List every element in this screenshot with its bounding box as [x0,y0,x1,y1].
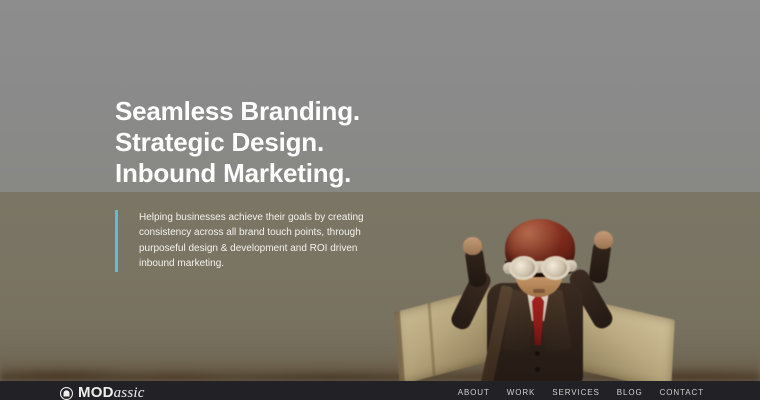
hero-headline-line-3: Inbound Marketing. [115,158,360,189]
hero-headline-line-1: Seamless Branding. [115,96,360,127]
nav-item-contact[interactable]: CONTACT [660,388,704,398]
hero-headline: Seamless Branding. Strategic Design. Inb… [115,96,360,189]
modassic-circle-icon [60,387,73,400]
nav-item-blog[interactable]: BLOG [617,388,643,398]
hero-blurb-container: Helping businesses achieve their goals b… [115,210,365,272]
sky-background [0,0,760,192]
site-footer-bar: MODassic ABOUT WORK SERVICES BLOG CONTAC… [0,381,760,400]
goggle-lens-right [541,256,571,281]
nav-item-services[interactable]: SERVICES [552,388,600,398]
fist-left [463,237,482,255]
logo-wordmark: MODassic [78,385,145,400]
suit-button-upper [535,351,540,356]
site-logo[interactable]: MODassic [60,385,145,400]
hero-headline-line-2: Strategic Design. [115,127,360,158]
suit-button-lower [535,367,540,372]
nav-item-about[interactable]: ABOUT [458,388,490,398]
hero-blurb-text: Helping businesses achieve their goals b… [139,210,365,272]
fist-right [594,231,613,249]
page-root: Seamless Branding. Strategic Design. Inb… [0,0,760,400]
logo-word-assic: assic [114,385,145,400]
hero-photo-child-aviator [395,211,695,381]
footer-navigation: ABOUT WORK SERVICES BLOG CONTACT [458,388,704,398]
child-mouth [533,289,545,293]
nav-item-work[interactable]: WORK [507,388,536,398]
logo-word-mod: MOD [78,384,114,400]
